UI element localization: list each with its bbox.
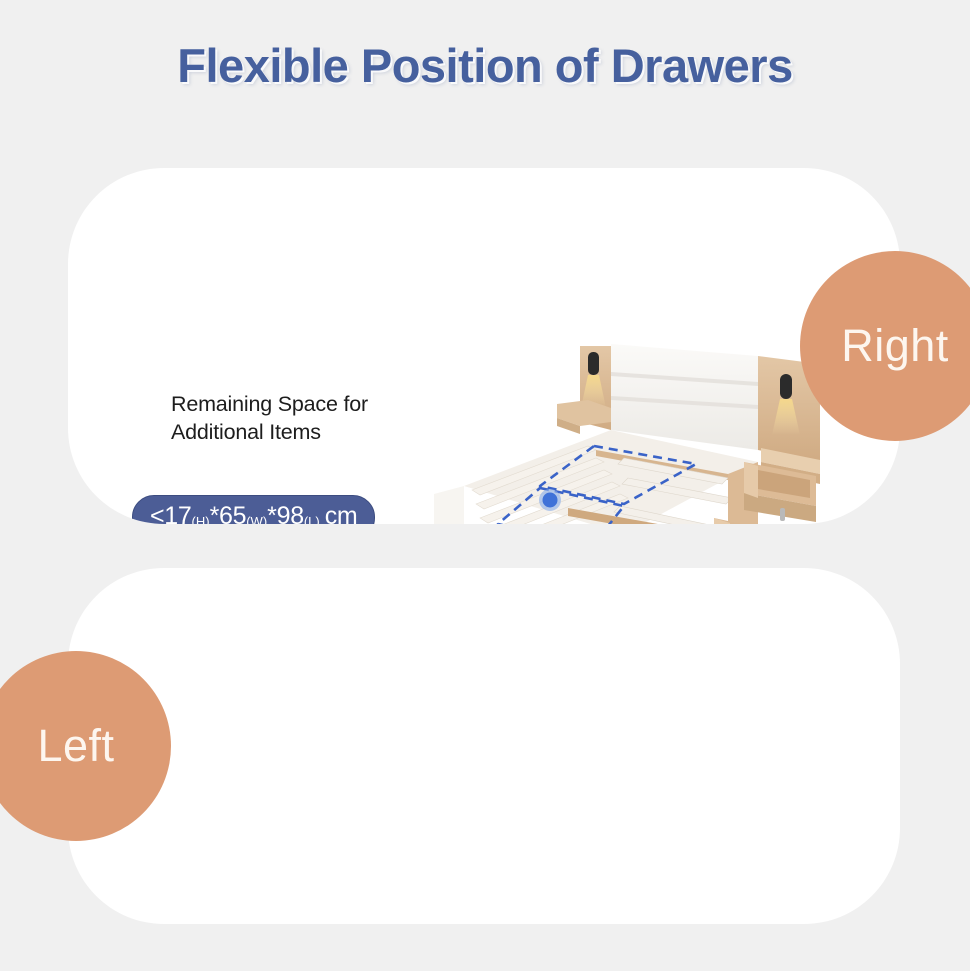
dimension-badge: <17(H)*65(W)*98(L)cm bbox=[132, 495, 375, 524]
dimension-separator-1: * bbox=[210, 502, 219, 524]
card-right-clip: Remaining Space for Additional Items <17… bbox=[68, 168, 900, 524]
card-left-clip bbox=[68, 568, 900, 924]
dimension-separator-2: * bbox=[267, 502, 276, 524]
dimension-width-label: (W) bbox=[246, 514, 267, 524]
dimension-length-label: (L) bbox=[304, 514, 320, 524]
badge-right-label: Right bbox=[841, 320, 949, 372]
dimension-unit: cm bbox=[325, 502, 358, 524]
remaining-space-info: Remaining Space for Additional Items bbox=[171, 390, 471, 446]
info-heading-line1: Remaining Space for bbox=[171, 390, 471, 418]
bed-frame-illustration bbox=[428, 338, 848, 524]
info-heading-line2: Additional Items bbox=[171, 418, 471, 446]
dimension-height-label: (H) bbox=[192, 514, 210, 524]
card-left-configuration bbox=[68, 568, 900, 924]
dimension-width-value: 65 bbox=[219, 502, 246, 524]
dimension-length-value: 98 bbox=[277, 502, 304, 524]
dimension-height-value: <17 bbox=[150, 502, 192, 524]
page-title: Flexible Position of Drawers bbox=[0, 38, 970, 93]
badge-left-label: Left bbox=[37, 720, 114, 772]
card-right-configuration: Remaining Space for Additional Items <17… bbox=[68, 168, 900, 524]
